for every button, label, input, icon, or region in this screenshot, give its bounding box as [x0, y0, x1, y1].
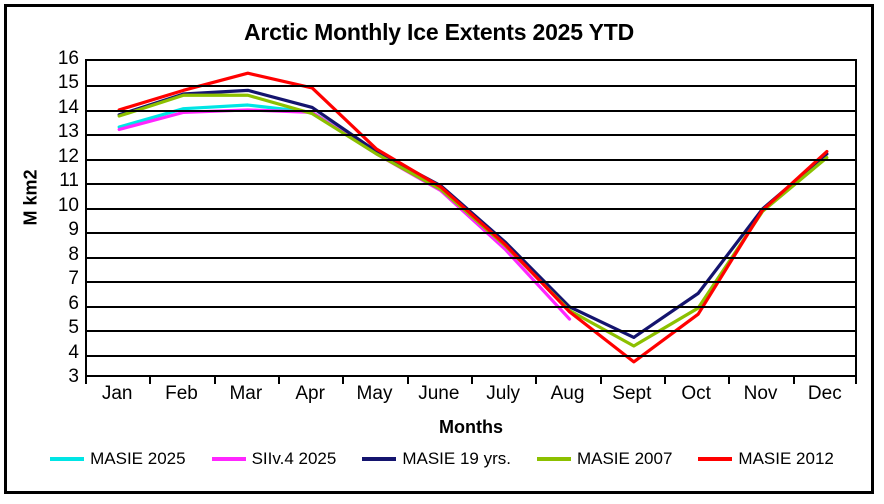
y-axis-tick-label: 3 [47, 366, 79, 388]
legend-item[interactable]: MASIE 2025 [50, 449, 185, 469]
gridline [87, 159, 855, 161]
y-axis-tick-label: 13 [47, 121, 79, 143]
legend-label: MASIE 2012 [738, 449, 833, 469]
y-axis-tick-label: 4 [47, 342, 79, 364]
chart-title: Arctic Monthly Ice Extents 2025 YTD [7, 19, 871, 46]
gridline [87, 208, 855, 210]
y-axis-tick-label: 15 [47, 72, 79, 94]
gridline [87, 281, 855, 283]
legend-label: MASIE 19 yrs. [402, 449, 511, 469]
legend-color-swatch [537, 457, 571, 461]
legend-color-swatch [362, 457, 396, 461]
y-axis-tick-label: 9 [47, 219, 79, 241]
gridline [87, 110, 855, 112]
legend-color-swatch [212, 457, 246, 461]
gridline [87, 232, 855, 234]
y-axis-tick-label: 6 [47, 293, 79, 315]
gridline [87, 183, 855, 185]
series-line [119, 73, 827, 362]
legend-color-swatch [50, 457, 84, 461]
y-axis-tick-label: 12 [47, 146, 79, 168]
plot-area [85, 59, 857, 377]
gridline [87, 330, 855, 332]
legend-color-swatch [698, 457, 732, 461]
chart-frame: Arctic Monthly Ice Extents 2025 YTD M km… [4, 4, 874, 494]
legend-item[interactable]: SIIv.4 2025 [212, 449, 337, 469]
y-axis-tick-label: 7 [47, 268, 79, 290]
chart-legend: MASIE 2025SIIv.4 2025MASIE 19 yrs.MASIE … [7, 449, 877, 469]
legend-item[interactable]: MASIE 2007 [537, 449, 672, 469]
x-axis-tick-labels: JanFebMarAprMayJuneJulyAugSeptOctNovDec [85, 383, 857, 413]
y-axis-tick-label: 11 [47, 170, 79, 192]
y-axis-tick-label: 8 [47, 244, 79, 266]
gridline [87, 306, 855, 308]
legend-label: SIIv.4 2025 [252, 449, 337, 469]
gridline [87, 355, 855, 357]
y-axis-tick-label: 5 [47, 317, 79, 339]
gridline [87, 134, 855, 136]
gridline [87, 257, 855, 259]
y-axis-title: M km2 [21, 138, 42, 258]
y-axis-tick-label: 10 [47, 195, 79, 217]
y-axis-tick-label: 14 [47, 97, 79, 119]
legend-item[interactable]: MASIE 2012 [698, 449, 833, 469]
y-axis-tick-labels: 345678910111213141516 [43, 59, 79, 377]
legend-label: MASIE 2025 [90, 449, 185, 469]
x-axis-title: Months [85, 417, 857, 438]
series-line [119, 110, 569, 319]
x-axis-tick-label: Dec [785, 383, 865, 405]
gridline [87, 85, 855, 87]
legend-item[interactable]: MASIE 19 yrs. [362, 449, 511, 469]
y-axis-tick-label: 16 [47, 48, 79, 70]
legend-label: MASIE 2007 [577, 449, 672, 469]
